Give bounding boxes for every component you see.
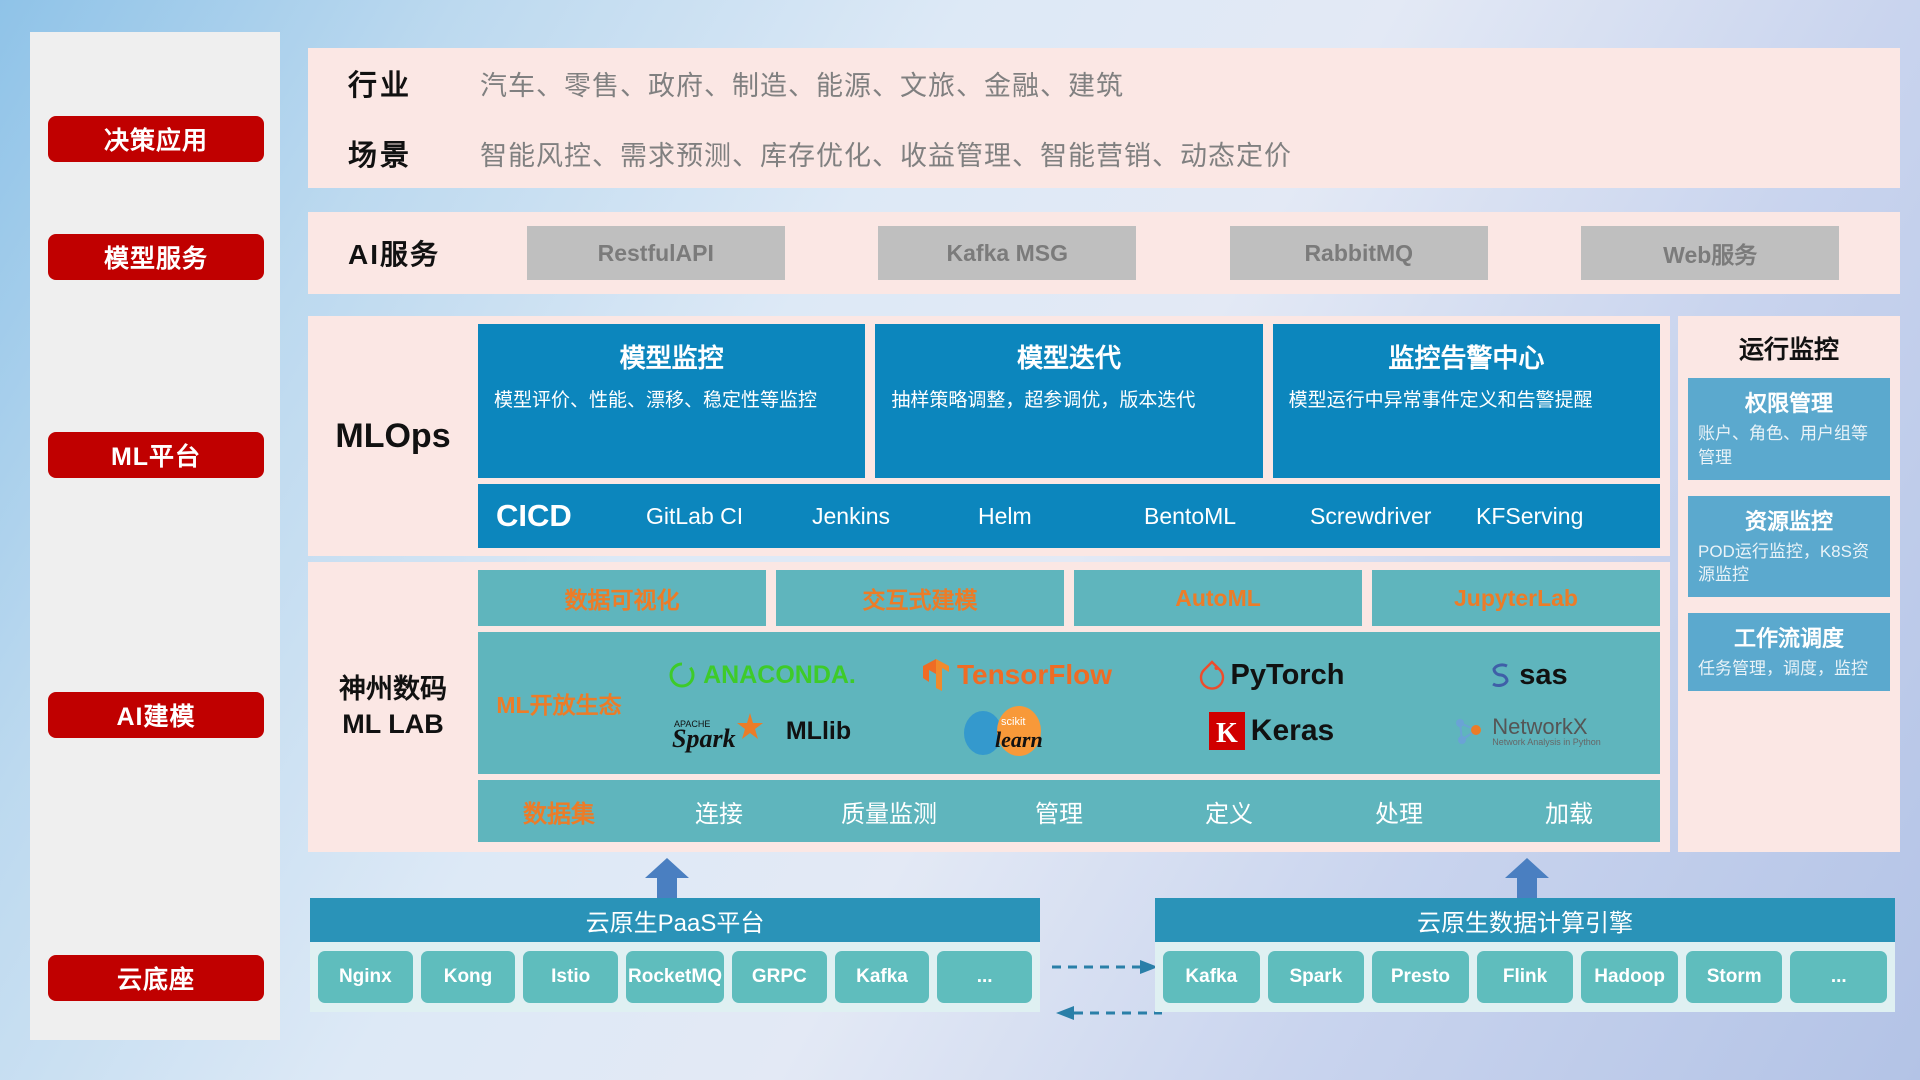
tensorflow-logo: TensorFlow (889, 647, 1144, 703)
rail-item-ai-modeling[interactable]: AI建模 (48, 692, 264, 738)
svg-text:learn: learn (995, 727, 1043, 752)
networkx-label: NetworkX (1492, 716, 1601, 738)
pytorch-label: PyTorch (1231, 659, 1345, 692)
scenario-value: 智能风控、需求预测、库存优化、收益管理、智能营销、动态定价 (480, 134, 1292, 173)
cicd-item-helm[interactable]: Helm (978, 504, 1144, 529)
engine-chip-kafka[interactable]: Kafka (1163, 951, 1260, 1003)
mllib-label: MLlib (786, 717, 851, 746)
cicd-item-jenkins[interactable]: Jenkins (812, 504, 978, 529)
monitor-card-workflow[interactable]: 工作流调度 任务管理，调度，监控 (1688, 613, 1890, 691)
modeling-tab-data-visualization[interactable]: 数据可视化 (478, 570, 766, 626)
modeling-band: 神州数码 ML LAB 数据可视化 交互式建模 AutoML JupyterLa… (308, 562, 1670, 852)
mlops-key: MLOps (308, 316, 478, 556)
cloud-chip-rocketmq[interactable]: RocketMQ (626, 951, 724, 1003)
card-desc: 模型评价、性能、漂移、稳定性等监控 (494, 387, 849, 415)
cloud-chip-nginx[interactable]: Nginx (318, 951, 413, 1003)
cloud-chip-more[interactable]: ... (937, 951, 1032, 1003)
rail-label: 决策应用 (104, 121, 208, 157)
rail-label: ML平台 (111, 437, 201, 473)
modeling-tab-list: 数据可视化 交互式建模 AutoML JupyterLab (478, 570, 1660, 626)
cicd-label: CICD (496, 498, 646, 534)
card-title: 监控告警中心 (1289, 338, 1644, 375)
monitor-card-permission[interactable]: 权限管理 账户、角色、用户组等管理 (1688, 378, 1890, 480)
cloud-chip-kong[interactable]: Kong (421, 951, 516, 1003)
modeling-tab-interactive-modeling[interactable]: 交互式建模 (776, 570, 1064, 626)
mlops-card-list: 模型监控 模型评价、性能、漂移、稳定性等监控 模型迭代 抽样策略调整，超参调优，… (478, 324, 1660, 478)
dataset-item-process[interactable]: 处理 (1314, 794, 1484, 829)
dashed-arrow-right-icon (1052, 957, 1162, 977)
rail-label: AI建模 (116, 697, 195, 733)
dataset-item-connect[interactable]: 连接 (634, 794, 804, 829)
scenario-row: 场景 智能风控、需求预测、库存优化、收益管理、智能营销、动态定价 (308, 118, 1900, 188)
card-desc: 模型运行中异常事件定义和告警提醒 (1289, 387, 1644, 415)
keras-icon: K (1209, 712, 1245, 750)
rail-item-ml-platform[interactable]: ML平台 (48, 432, 264, 478)
business-band: 行业 汽车、零售、政府、制造、能源、文旅、金融、建筑 场景 智能风控、需求预测、… (308, 48, 1900, 188)
modeling-key-line1: 神州数码 (339, 672, 447, 707)
pytorch-logo: PyTorch (1144, 647, 1399, 703)
rail-item-model-service[interactable]: 模型服务 (48, 234, 264, 280)
card-desc: 账户、角色、用户组等管理 (1698, 422, 1880, 470)
modeling-key: 神州数码 ML LAB (308, 562, 478, 852)
mlops-card-model-iteration[interactable]: 模型迭代 抽样策略调整，超参调优，版本迭代 (875, 324, 1262, 478)
cloud-paas-header: 云原生PaaS平台 (310, 898, 1040, 942)
cicd-row: CICD GitLab CI Jenkins Helm BentoML Scre… (478, 484, 1660, 548)
engine-chip-flink[interactable]: Flink (1477, 951, 1574, 1003)
anaconda-logo: ANACONDA. (634, 647, 889, 703)
industry-row: 行业 汽车、零售、政府、制造、能源、文旅、金融、建筑 (308, 48, 1900, 118)
cicd-item-list: GitLab CI Jenkins Helm BentoML Screwdriv… (646, 504, 1642, 529)
card-title: 工作流调度 (1698, 621, 1880, 653)
mlops-band: MLOps 模型监控 模型评价、性能、漂移、稳定性等监控 模型迭代 抽样策略调整… (308, 316, 1670, 556)
spark-mllib-logo: APACHE Spark MLlib (634, 703, 889, 759)
dataset-item-list: 连接 质量监测 管理 定义 处理 加载 (634, 794, 1654, 829)
rail-label: 模型服务 (104, 239, 208, 275)
rail-label: 云底座 (117, 960, 195, 996)
up-arrow-paas-icon (645, 858, 689, 900)
sas-label: sas (1519, 659, 1567, 692)
cloud-chip-kafka[interactable]: Kafka (835, 951, 930, 1003)
sas-logo: sas (1399, 647, 1654, 703)
cicd-item-bentoml[interactable]: BentoML (1144, 504, 1310, 529)
engine-chip-storm[interactable]: Storm (1686, 951, 1783, 1003)
card-desc: 抽样策略调整，超参调优，版本迭代 (891, 387, 1246, 415)
dataset-item-define[interactable]: 定义 (1144, 794, 1314, 829)
cicd-item-kfserving[interactable]: KFServing (1476, 504, 1642, 529)
up-arrow-data-engine-icon (1505, 858, 1549, 900)
pytorch-icon (1199, 660, 1225, 690)
ml-ecosystem-logo-grid: ANACONDA. TensorFlow PyTorch (634, 647, 1654, 759)
svg-text:Spark: Spark (672, 724, 736, 753)
engine-chip-spark[interactable]: Spark (1268, 951, 1365, 1003)
networkx-tagline: Network Analysis in Python (1492, 738, 1601, 747)
modeling-tab-automl[interactable]: AutoML (1074, 570, 1362, 626)
card-title: 模型监控 (494, 338, 849, 375)
industry-key: 行业 (348, 62, 480, 104)
sas-icon (1485, 660, 1513, 690)
modeling-body: 数据可视化 交互式建模 AutoML JupyterLab ML开放生态 ANA… (478, 562, 1670, 852)
cicd-item-screwdriver[interactable]: Screwdriver (1310, 504, 1476, 529)
tensorflow-icon (921, 658, 951, 692)
cloud-chip-grpc[interactable]: GRPC (732, 951, 827, 1003)
modeling-key-line2: ML LAB (342, 707, 444, 742)
svg-text:K: K (1216, 718, 1238, 749)
tensorflow-label: TensorFlow (957, 659, 1112, 691)
keras-label: Keras (1251, 714, 1334, 748)
runtime-monitor-panel: 运行监控 权限管理 账户、角色、用户组等管理 资源监控 POD运行监控，K8S资… (1678, 316, 1900, 852)
monitor-card-resource[interactable]: 资源监控 POD运行监控，K8S资源监控 (1688, 496, 1890, 598)
cloud-data-engine-group: 云原生数据计算引擎 Kafka Spark Presto Flink Hadoo… (1155, 898, 1895, 1012)
card-title: 模型迭代 (891, 338, 1246, 375)
dataset-row: 数据集 连接 质量监测 管理 定义 处理 加载 (478, 780, 1660, 842)
cloud-data-engine-chip-list: Kafka Spark Presto Flink Hadoop Storm ..… (1155, 942, 1895, 1012)
card-desc: POD运行监控，K8S资源监控 (1698, 540, 1880, 588)
card-title: 资源监控 (1698, 504, 1880, 536)
engine-chip-presto[interactable]: Presto (1372, 951, 1469, 1003)
ai-service-chip-list: RestfulAPI Kafka MSG RabbitMQ Web服务 (480, 226, 1900, 280)
mlops-card-model-monitoring[interactable]: 模型监控 模型评价、性能、漂移、稳定性等监控 (478, 324, 865, 478)
spark-icon: APACHE Spark (672, 709, 780, 753)
dataset-item-quality[interactable]: 质量监测 (804, 794, 974, 829)
rail-item-decision-app[interactable]: 决策应用 (48, 116, 264, 162)
ai-service-chip-restfulapi[interactable]: RestfulAPI (527, 226, 785, 280)
ml-ecosystem-label: ML开放生态 (484, 686, 634, 720)
scikit-learn-logo: scikit learn (889, 703, 1144, 759)
industry-value: 汽车、零售、政府、制造、能源、文旅、金融、建筑 (480, 64, 1124, 103)
cloud-paas-chip-list: Nginx Kong Istio RocketMQ GRPC Kafka ... (310, 942, 1040, 1012)
dataset-label: 数据集 (484, 794, 634, 829)
rail-item-cloud-foundation[interactable]: 云底座 (48, 955, 264, 1001)
modeling-tab-jupyterlab[interactable]: JupyterLab (1372, 570, 1660, 626)
scikit-learn-icon: scikit learn (957, 703, 1077, 759)
card-title: 权限管理 (1698, 386, 1880, 418)
dashed-arrow-left-icon (1052, 1003, 1162, 1023)
ml-ecosystem-row: ML开放生态 ANACONDA. TensorFlow (478, 632, 1660, 774)
ai-service-key: AI服务 (348, 233, 480, 273)
anaconda-label: ANACONDA. (703, 661, 856, 690)
ai-service-band: AI服务 RestfulAPI Kafka MSG RabbitMQ Web服务 (308, 212, 1900, 294)
cloud-paas-group: 云原生PaaS平台 Nginx Kong Istio RocketMQ GRPC… (310, 898, 1040, 1012)
layer-rail: 决策应用 模型服务 ML平台 AI建模 云底座 (30, 32, 280, 1040)
cicd-item-gitlab-ci[interactable]: GitLab CI (646, 504, 812, 529)
cloud-data-engine-header: 云原生数据计算引擎 (1155, 898, 1895, 942)
scenario-key: 场景 (348, 132, 480, 174)
mlops-card-alert-center[interactable]: 监控告警中心 模型运行中异常事件定义和告警提醒 (1273, 324, 1660, 478)
cloud-chip-istio[interactable]: Istio (523, 951, 618, 1003)
runtime-monitor-title: 运行监控 (1688, 330, 1890, 366)
card-desc: 任务管理，调度，监控 (1698, 657, 1880, 681)
networkx-logo: NetworkX Network Analysis in Python (1399, 703, 1654, 759)
ai-service-chip-kafka-msg[interactable]: Kafka MSG (878, 226, 1136, 280)
networkx-icon (1452, 714, 1486, 748)
anaconda-icon (667, 660, 697, 690)
ai-service-chip-web[interactable]: Web服务 (1581, 226, 1839, 280)
engine-chip-hadoop[interactable]: Hadoop (1581, 951, 1678, 1003)
dataset-item-manage[interactable]: 管理 (974, 794, 1144, 829)
dataset-item-load[interactable]: 加载 (1484, 794, 1654, 829)
keras-logo: K Keras (1144, 703, 1399, 759)
ai-service-chip-rabbitmq[interactable]: RabbitMQ (1230, 226, 1488, 280)
mlops-body: 模型监控 模型评价、性能、漂移、稳定性等监控 模型迭代 抽样策略调整，超参调优，… (478, 316, 1670, 556)
engine-chip-more[interactable]: ... (1790, 951, 1887, 1003)
